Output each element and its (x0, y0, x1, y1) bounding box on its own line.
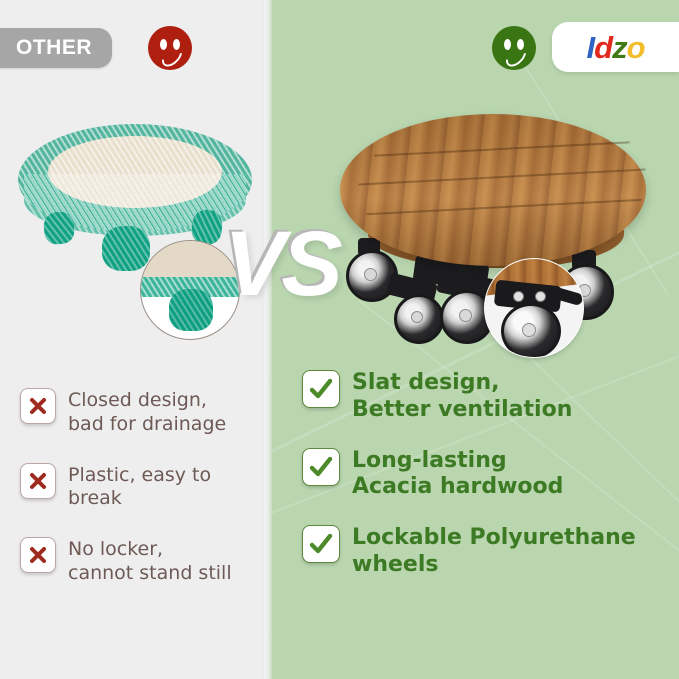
cons-list-item: No locker, cannot stand still (20, 537, 270, 586)
versus-label: VS (224, 218, 339, 310)
other-badge: OTHER (0, 28, 112, 68)
brand-logo-badge: Idzo (552, 22, 679, 72)
pros-list-item-label: Lockable Polyurethane wheels (352, 525, 636, 579)
zoom-bolt (535, 291, 546, 302)
slat-gap (358, 168, 646, 185)
cons-list-item-label: Closed design, bad for drainage (68, 388, 226, 437)
pros-list-item: Long-lasting Acacia hardwood (302, 448, 672, 502)
pros-list-item: Lockable Polyurethane wheels (302, 525, 672, 579)
happy-face-icon (492, 26, 536, 70)
logo-letter-1: I (587, 30, 595, 65)
comparison-infographic: OTHER Idzo VS (0, 0, 679, 679)
cons-list: Closed design, bad for drainage Plastic,… (20, 388, 270, 612)
logo-letter-4: o (627, 30, 645, 65)
check-icon (302, 370, 340, 408)
brand-logo-text: Idzo (587, 32, 645, 63)
slat-gap (374, 141, 630, 156)
sad-face-eye-left (160, 39, 167, 50)
caster-hub (364, 268, 377, 281)
caster-hub (459, 309, 472, 322)
cross-icon (20, 388, 56, 424)
pros-list-item-label: Slat design, Better ventilation (352, 370, 572, 424)
cons-list-item: Plastic, easy to break (20, 463, 270, 512)
check-icon (302, 525, 340, 563)
zoom-hatching (169, 289, 213, 331)
cons-list-item-label: No locker, cannot stand still (68, 537, 232, 586)
logo-letter-3: z (612, 30, 627, 65)
pros-list-item-label: Long-lasting Acacia hardwood (352, 448, 563, 502)
acacia-wood-slat-top (340, 114, 646, 266)
brand-detail-zoom-circle (484, 258, 584, 358)
brand-product-photo (332, 110, 672, 340)
cross-icon (20, 537, 56, 573)
other-badge-label: OTHER (16, 36, 92, 60)
cons-list-item-label: Plastic, easy to break (68, 463, 270, 512)
sad-face-icon (148, 26, 192, 70)
cross-icon (20, 463, 56, 499)
logo-letter-2: d (594, 30, 612, 65)
cons-list-item: Closed design, bad for drainage (20, 388, 270, 437)
zoom-caster-hub (522, 323, 536, 337)
pros-list-item: Slat design, Better ventilation (302, 370, 672, 424)
zoom-bolt (513, 291, 524, 302)
caster-hub (411, 311, 423, 323)
check-icon (302, 448, 340, 486)
happy-face-eye-left (504, 39, 511, 50)
slat-gap (366, 199, 642, 215)
pros-list: Slat design, Better ventilation Long-las… (302, 370, 672, 603)
